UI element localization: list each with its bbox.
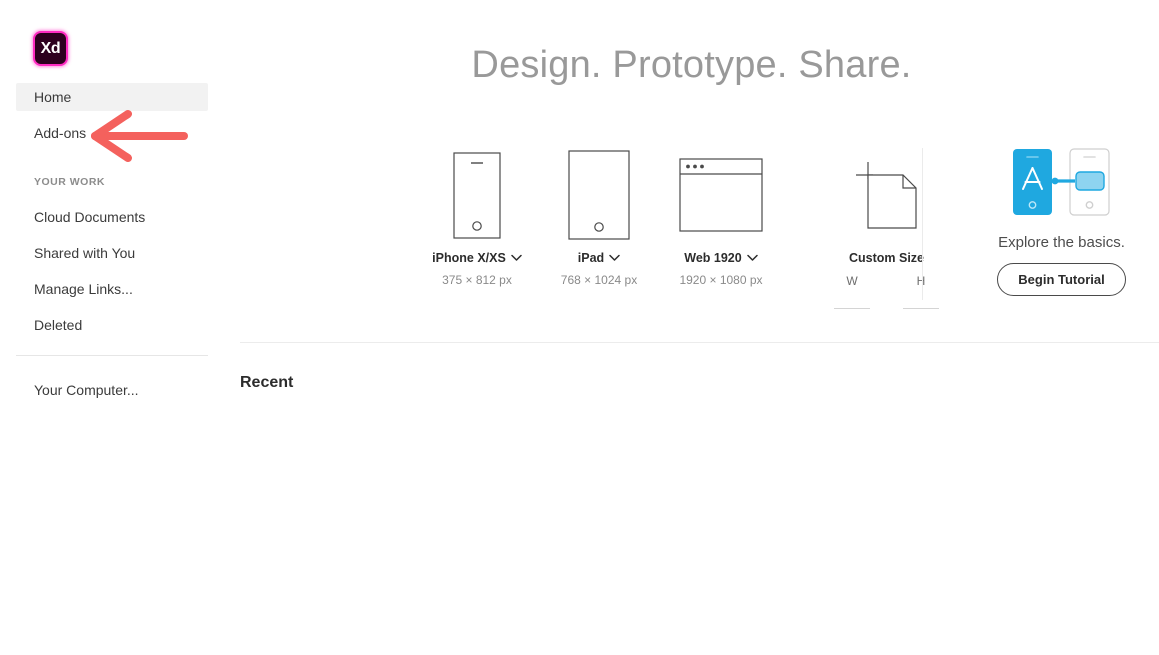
custom-width-label: W xyxy=(846,274,857,288)
sidebar-item-deleted[interactable]: Deleted xyxy=(16,311,208,339)
chevron-down-icon[interactable] xyxy=(747,254,758,262)
sidebar-item-home-label: Home xyxy=(34,89,71,105)
sidebar-item-shared-with-you[interactable]: Shared with You xyxy=(16,239,208,267)
sidebar-divider xyxy=(16,355,208,356)
section-vertical-divider xyxy=(922,148,923,300)
preset-web-label: Web 1920 xyxy=(684,251,741,265)
tutorial-prototype-icon xyxy=(1012,148,1112,221)
sidebar-item-home[interactable]: Home xyxy=(16,83,208,111)
main-content: Design. Prototype. Share. iPhone X/XS xyxy=(224,0,1159,655)
browser-window-icon xyxy=(679,145,763,245)
preset-card-ipad[interactable]: iPad 768 × 1024 px xyxy=(538,145,660,305)
sidebar-item-cloud-documents-label: Cloud Documents xyxy=(34,209,145,225)
sidebar-item-addons-label: Add-ons xyxy=(34,125,86,141)
preset-card-web-name: Web 1920 xyxy=(684,251,757,265)
preset-card-custom-size[interactable]: Custom Size W H xyxy=(824,145,949,309)
preset-card-ipad-dimensions: 768 × 1024 px xyxy=(561,273,637,287)
tutorial-card: Explore the basics. Begin Tutorial xyxy=(964,148,1159,296)
sidebar: Xd Home Add-ons YOUR WORK Cloud Document… xyxy=(0,0,224,655)
custom-height-group: H xyxy=(893,274,949,309)
document-page-icon xyxy=(851,145,923,245)
xd-start-screen: Xd Home Add-ons YOUR WORK Cloud Document… xyxy=(0,0,1159,655)
preset-card-ipad-name: iPad xyxy=(578,251,620,265)
custom-height-input[interactable] xyxy=(903,293,939,309)
recent-section-title: Recent xyxy=(240,374,293,392)
sidebar-item-shared-with-you-label: Shared with You xyxy=(34,245,135,261)
custom-width-group: W xyxy=(824,274,880,309)
chevron-down-icon[interactable] xyxy=(609,254,620,262)
sidebar-item-manage-links[interactable]: Manage Links... xyxy=(16,275,208,303)
preset-card-iphone[interactable]: iPhone X/XS 375 × 812 px xyxy=(416,145,538,305)
main-section-divider xyxy=(240,342,1159,343)
preset-ipad-label: iPad xyxy=(578,251,604,265)
custom-height-label: H xyxy=(917,274,926,288)
preset-iphone-label: iPhone X/XS xyxy=(432,251,506,265)
page-title: Design. Prototype. Share. xyxy=(224,44,1159,87)
sidebar-section-label: YOUR WORK xyxy=(34,176,105,188)
begin-tutorial-button[interactable]: Begin Tutorial xyxy=(997,263,1125,296)
sidebar-item-your-computer-label: Your Computer... xyxy=(34,382,139,398)
phone-icon xyxy=(453,145,501,245)
preset-card-web-dimensions: 1920 × 1080 px xyxy=(679,273,762,287)
tablet-icon xyxy=(568,145,630,245)
preset-card-iphone-dimensions: 375 × 812 px xyxy=(442,273,512,287)
sidebar-item-deleted-label: Deleted xyxy=(34,317,82,333)
adobe-xd-logo: Xd xyxy=(33,31,68,66)
sidebar-item-your-computer[interactable]: Your Computer... xyxy=(16,376,208,404)
preset-card-iphone-name: iPhone X/XS xyxy=(432,251,522,265)
sidebar-item-cloud-documents[interactable]: Cloud Documents xyxy=(16,203,208,231)
sidebar-item-manage-links-label: Manage Links... xyxy=(34,281,133,297)
custom-size-fields: W H xyxy=(824,274,949,309)
preset-card-web[interactable]: Web 1920 1920 × 1080 px xyxy=(660,145,782,305)
sidebar-item-addons[interactable]: Add-ons xyxy=(16,119,208,147)
tutorial-caption: Explore the basics. xyxy=(998,234,1125,251)
custom-width-input[interactable] xyxy=(834,293,870,309)
chevron-down-icon[interactable] xyxy=(511,254,522,262)
preset-card-custom-size-title: Custom Size xyxy=(849,251,924,265)
adobe-xd-logo-text: Xd xyxy=(41,41,61,57)
